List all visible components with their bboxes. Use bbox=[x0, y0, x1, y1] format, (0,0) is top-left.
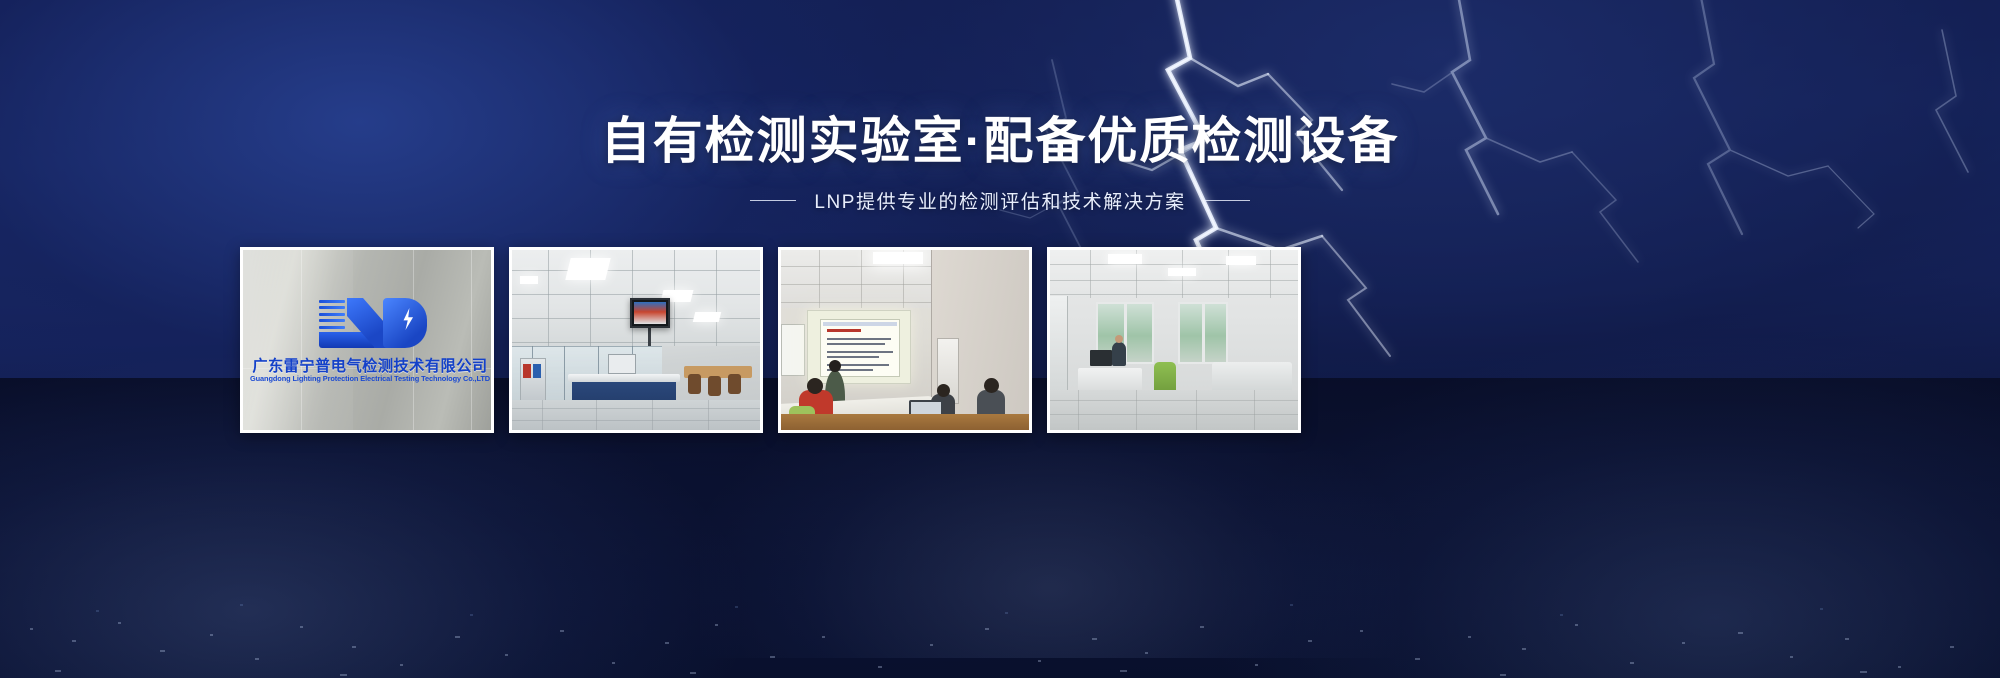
wall-seam bbox=[471, 250, 472, 430]
chair bbox=[708, 376, 721, 396]
floor bbox=[512, 400, 760, 430]
floor bbox=[1050, 390, 1298, 430]
test-bench-top bbox=[568, 374, 680, 382]
cabinet-indicator-red bbox=[523, 364, 531, 378]
wall-seam bbox=[301, 250, 302, 430]
company-name-cn: 广东雷宁普电气检测技术有限公司 bbox=[251, 354, 488, 376]
dash-right-icon bbox=[1204, 200, 1250, 201]
chair bbox=[688, 374, 701, 394]
ceiling-light bbox=[1226, 256, 1256, 265]
company-name-en: Guangdong Lighting Protection Electrical… bbox=[247, 374, 491, 383]
chair bbox=[728, 374, 741, 394]
logo-letter-p-with-bolt bbox=[383, 298, 427, 348]
ceiling-light bbox=[873, 252, 923, 264]
ceiling-light bbox=[565, 258, 610, 280]
projection-screen bbox=[807, 310, 911, 384]
tv-mount bbox=[648, 328, 651, 346]
ceiling-light bbox=[693, 312, 721, 322]
photo-meeting-room bbox=[781, 250, 1029, 430]
photo-laboratory bbox=[512, 250, 760, 430]
whiteboard bbox=[781, 324, 805, 376]
floor bbox=[781, 414, 1029, 430]
gallery-strip: 广东雷宁普电气检测技术有限公司 Guangdong Lighting Prote… bbox=[240, 247, 1292, 433]
logo-bars-icon bbox=[319, 300, 345, 336]
gallery-card-office[interactable] bbox=[1047, 247, 1301, 433]
ceiling-light bbox=[520, 276, 538, 284]
gallery-card-laboratory[interactable] bbox=[509, 247, 763, 433]
ceiling-light bbox=[1108, 254, 1142, 264]
page-subtitle: LNP提供专业的检测评估和技术解决方案 bbox=[814, 187, 1185, 214]
city-glow-right bbox=[1220, 338, 2000, 678]
hero-banner: 自有检测实验室·配备优质检测设备 LNP提供专业的检测评估和技术解决方案 bbox=[0, 0, 2000, 678]
lnp-logo-icon bbox=[319, 294, 429, 346]
glass-partition bbox=[1050, 296, 1068, 392]
ceiling-light bbox=[1168, 268, 1196, 276]
person-presenter-head bbox=[829, 360, 841, 372]
gallery-card-meeting-room[interactable] bbox=[778, 247, 1032, 433]
person-seated-red-head bbox=[807, 378, 823, 394]
person-seated-mid-head bbox=[937, 384, 950, 397]
cabinet-indicator-blue bbox=[533, 364, 541, 378]
desktop-monitor bbox=[1090, 350, 1112, 366]
dash-left-icon bbox=[750, 200, 796, 201]
subtitle-row: LNP提供专业的检测评估和技术解决方案 bbox=[0, 187, 2000, 214]
gallery-card-logo-wall[interactable]: 广东雷宁普电气检测技术有限公司 Guangdong Lighting Prote… bbox=[240, 247, 494, 433]
photo-office bbox=[1050, 250, 1298, 430]
wall-display-icon bbox=[630, 298, 670, 328]
photo-logo-wall: 广东雷宁普电气检测技术有限公司 Guangdong Lighting Prote… bbox=[243, 250, 491, 430]
bench-monitor bbox=[608, 354, 636, 374]
person-seated bbox=[1112, 342, 1126, 366]
person-seated-right-head bbox=[984, 378, 999, 393]
page-title: 自有检测实验室·配备优质检测设备 bbox=[0, 112, 2000, 171]
headline-block: 自有检测实验室·配备优质检测设备 LNP提供专业的检测评估和技术解决方案 bbox=[0, 0, 2000, 214]
